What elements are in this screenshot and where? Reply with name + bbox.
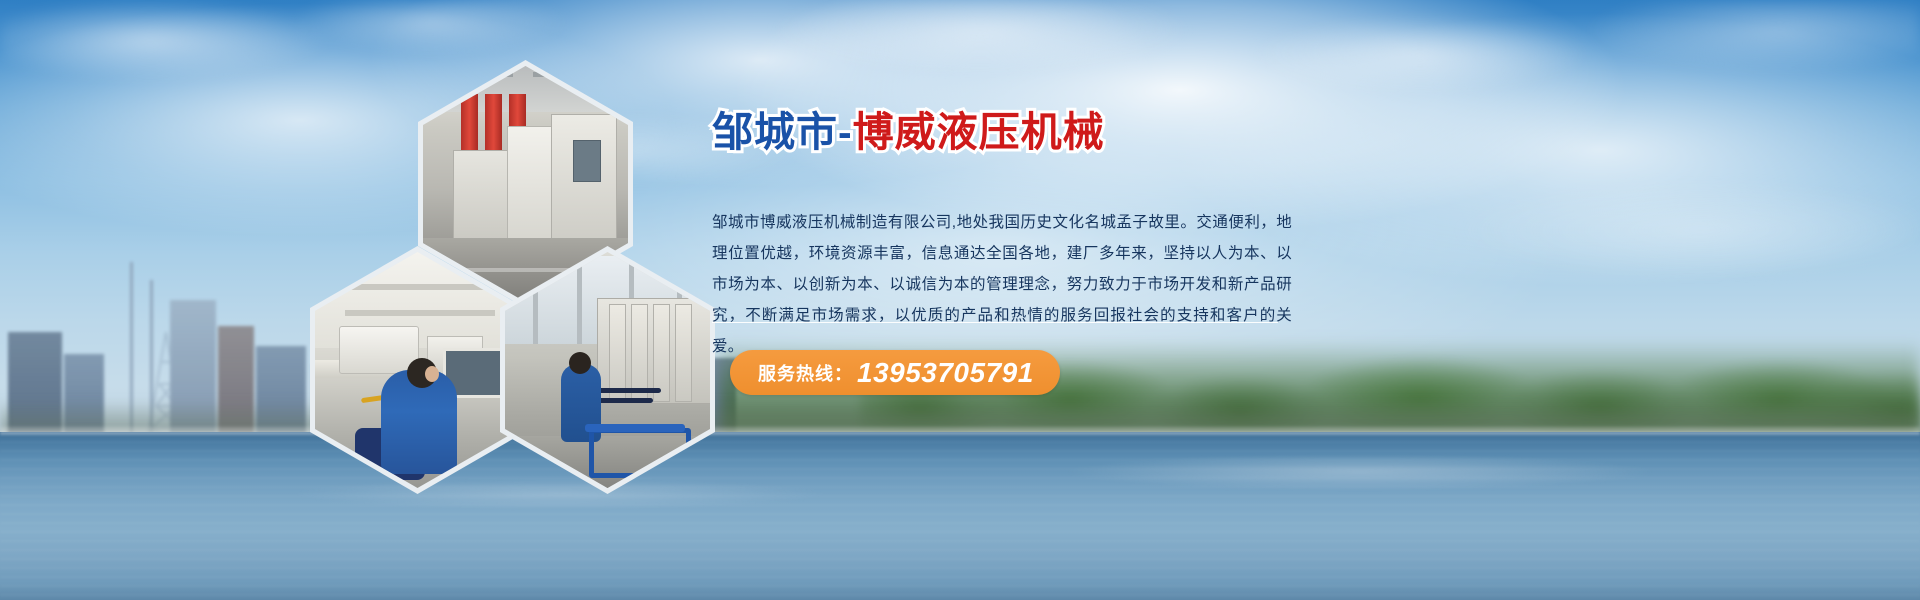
testing-lab-photo (315, 252, 520, 488)
company-description-text: 邹城市博威液压机械制造有限公司,地处我国历史文化名城孟子故里。交通便利，地理位置… (712, 207, 1292, 362)
service-hotline-label: 服务热线： (758, 360, 853, 386)
service-hotline-number: 13953705791 (857, 357, 1034, 389)
company-hero-banner: 邹城市-博威液压机械 邹城市-博威液压机械 邹城市博威液压机械制造有限公司,地处… (0, 0, 1920, 600)
company-description: 邹城市博威液压机械制造有限公司,地处我国历史文化名城孟子故里。交通便利，地理位置… (712, 207, 1292, 362)
assembly-test-rig-photo (505, 252, 710, 488)
service-hotline-button[interactable]: 服务热线： 13953705791 (730, 350, 1060, 395)
banner-content: 邹城市-博威液压机械 邹城市-博威液压机械 邹城市博威液压机械制造有限公司,地处… (712, 108, 1292, 362)
company-title: 邹城市-博威液压机械 邹城市-博威液压机械 (712, 108, 1292, 157)
company-title-prefix: 邹城市- (712, 109, 853, 155)
hexagon-photo-cluster (308, 60, 698, 430)
company-title-name: 博威液压机械 (853, 109, 1105, 155)
water-reflections (0, 432, 1920, 600)
content-divider (712, 322, 1278, 323)
